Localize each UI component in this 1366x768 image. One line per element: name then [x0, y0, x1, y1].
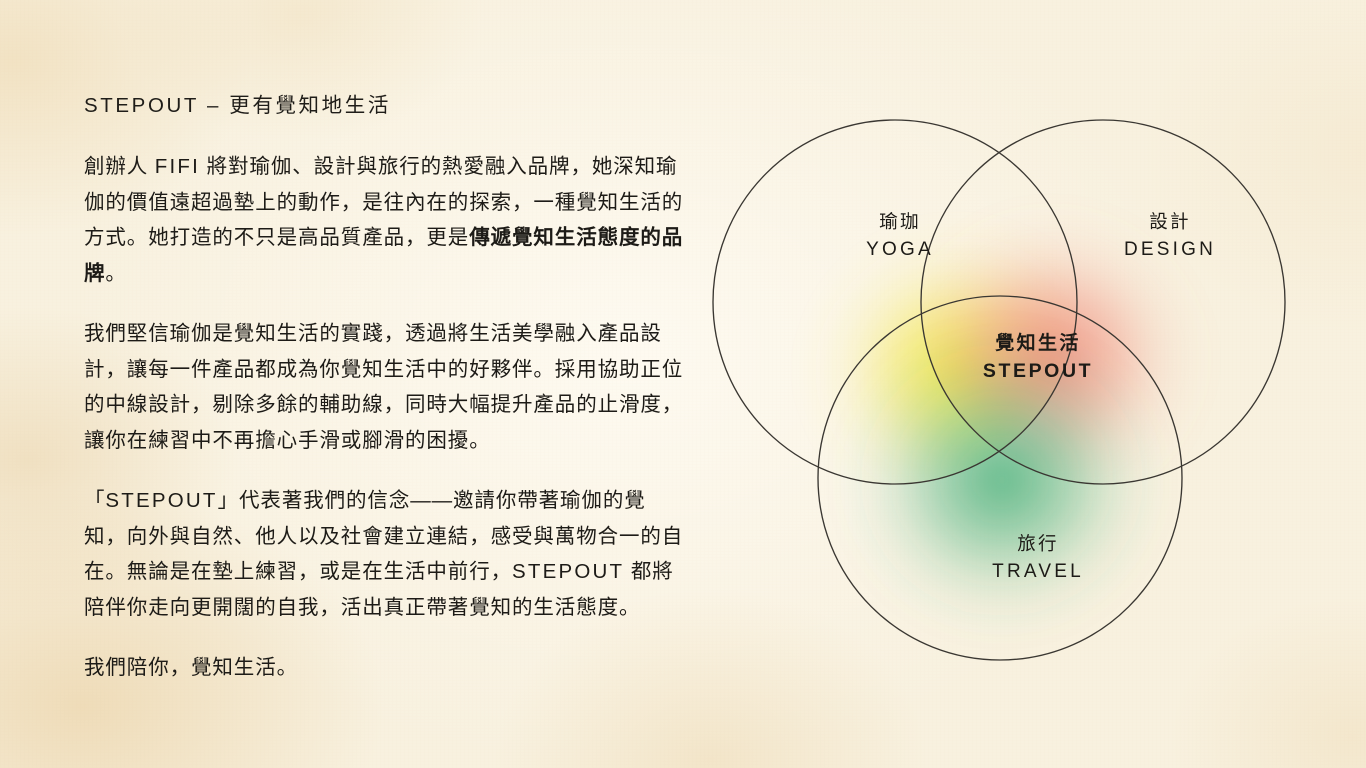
paragraph-list: 創辦人 FIFI 將對瑜伽、設計與旅行的熱愛融入品牌，她深知瑜伽的價值遠超過墊上…: [84, 149, 684, 686]
venn-diagram: 瑜珈 YOGA 設計 DESIGN 旅行 TRAVEL 覺知生活 STEPOUT: [680, 80, 1320, 700]
page-title: STEPOUT – 更有覺知地生活: [84, 88, 684, 118]
brand-copy-column: STEPOUT – 更有覺知地生活 創辦人 FIFI 將對瑜伽、設計與旅行的熱愛…: [84, 88, 684, 686]
venn-label-travel: 旅行 TRAVEL: [948, 530, 1128, 586]
paragraph-closing-line: 我們陪你，覺知生活。: [84, 650, 684, 686]
venn-label-travel-en: TRAVEL: [948, 557, 1128, 586]
venn-label-yoga: 瑜珈 YOGA: [810, 208, 990, 264]
venn-label-center: 覺知生活 STEPOUT: [948, 330, 1128, 386]
venn-label-design: 設計 DESIGN: [1080, 208, 1260, 264]
body-text: 我們陪你，覺知生活。: [84, 656, 298, 679]
body-text: 「: [84, 489, 105, 512]
body-text: FIFI: [155, 155, 200, 178]
venn-label-yoga-en: YOGA: [810, 235, 990, 264]
body-text: 我們堅信瑜伽是覺知生活的實踐，透過將生活美學融入產品設計，讓每一件產品都成為你覺…: [84, 322, 683, 452]
venn-label-design-en: DESIGN: [1080, 235, 1260, 264]
body-text: 。: [105, 262, 126, 285]
paragraph-founder-story: 創辦人 FIFI 將對瑜伽、設計與旅行的熱愛融入品牌，她深知瑜伽的價值遠超過墊上…: [84, 149, 684, 291]
body-text: STEPOUT: [105, 489, 217, 512]
venn-label-design-zh: 設計: [1080, 208, 1260, 235]
paragraph-brand-belief: 「STEPOUT」代表著我們的信念——邀請你帶著瑜伽的覺知，向外與自然、他人以及…: [84, 483, 684, 625]
body-text: STEPOUT: [512, 560, 624, 583]
venn-label-travel-zh: 旅行: [948, 530, 1128, 557]
venn-diagram-svg: [680, 80, 1320, 700]
body-text: 創辦人: [84, 155, 155, 178]
venn-center-label-zh: 覺知生活: [948, 330, 1128, 357]
paragraph-product-philosophy: 我們堅信瑜伽是覺知生活的實踐，透過將生活美學融入產品設計，讓每一件產品都成為你覺…: [84, 316, 684, 458]
venn-label-yoga-zh: 瑜珈: [810, 208, 990, 235]
venn-center-label-en: STEPOUT: [948, 357, 1128, 386]
